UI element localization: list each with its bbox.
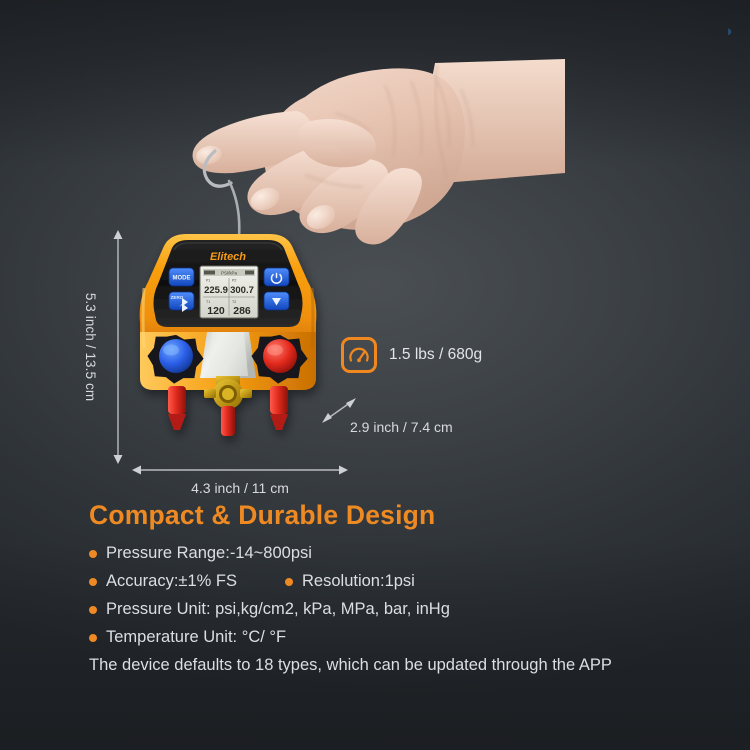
dimension-width: 4.3 inch / 11 cm bbox=[130, 462, 350, 504]
spec-text: Resolution:1psi bbox=[302, 571, 415, 592]
spec-subitem-resolution: Resolution:1psi bbox=[285, 571, 415, 592]
svg-text:225.9: 225.9 bbox=[204, 285, 228, 296]
spec-text: Pressure Range:-14~800psi bbox=[106, 543, 312, 564]
dimension-height-label: 5.3 inch / 13.5 cm bbox=[80, 228, 100, 466]
svg-text:ZERO: ZERO bbox=[171, 295, 184, 300]
bullet-icon bbox=[89, 578, 97, 586]
page-title: Compact & Durable Design bbox=[89, 500, 709, 531]
app-note: The device defaults to 18 types, which c… bbox=[89, 655, 709, 676]
brand-logo: Elitech bbox=[210, 251, 246, 263]
weight-label: 1.5 lbs / 680g bbox=[389, 346, 482, 364]
spec-item-temperature-unit: Temperature Unit: °C/ °F bbox=[89, 627, 709, 648]
svg-text:300.7: 300.7 bbox=[230, 285, 254, 296]
spec-text: Accuracy:±1% FS bbox=[106, 571, 237, 592]
svg-text:PSI/kPa: PSI/kPa bbox=[221, 271, 237, 276]
dimension-height: 5.3 inch / 13.5 cm bbox=[80, 228, 126, 466]
gauge-icon bbox=[341, 337, 377, 373]
spec-text: Temperature Unit: °C/ °F bbox=[106, 627, 286, 648]
svg-text:286: 286 bbox=[233, 305, 251, 317]
svg-text:T1: T1 bbox=[206, 300, 210, 304]
spec-text: Pressure Unit: psi,kg/cm2, kPa, MPa, bar… bbox=[106, 599, 450, 620]
dimension-width-label: 4.3 inch / 11 cm bbox=[130, 480, 350, 496]
dimension-depth: 2.9 inch / 7.4 cm bbox=[320, 395, 520, 443]
bullet-icon bbox=[89, 634, 97, 642]
watermark-icon: ◑ bbox=[722, 22, 734, 42]
svg-text:P1: P1 bbox=[206, 279, 210, 283]
spec-list: Pressure Range:-14~800psi Accuracy:±1% F… bbox=[89, 543, 709, 648]
bullet-icon bbox=[285, 578, 293, 586]
svg-text:MODE: MODE bbox=[173, 276, 191, 282]
product-device: Elitech PSI/kPa P1 P2 225.9 300.7 T1 T2 … bbox=[128, 228, 328, 453]
bullet-icon bbox=[89, 550, 97, 558]
svg-text:T2: T2 bbox=[232, 300, 236, 304]
weight-badge: 1.5 lbs / 680g bbox=[341, 337, 482, 373]
spec-item-pressure-range: Pressure Range:-14~800psi bbox=[89, 543, 709, 564]
svg-text:P2: P2 bbox=[232, 279, 236, 283]
spec-item-accuracy-resolution: Accuracy:±1% FS Resolution:1psi bbox=[89, 571, 709, 592]
svg-text:120: 120 bbox=[207, 305, 225, 317]
spec-item-pressure-unit: Pressure Unit: psi,kg/cm2, kPa, MPa, bar… bbox=[89, 599, 709, 620]
dimension-depth-label: 2.9 inch / 7.4 cm bbox=[350, 419, 453, 435]
copy-block: Compact & Durable Design Pressure Range:… bbox=[89, 500, 709, 676]
bullet-icon bbox=[89, 606, 97, 614]
